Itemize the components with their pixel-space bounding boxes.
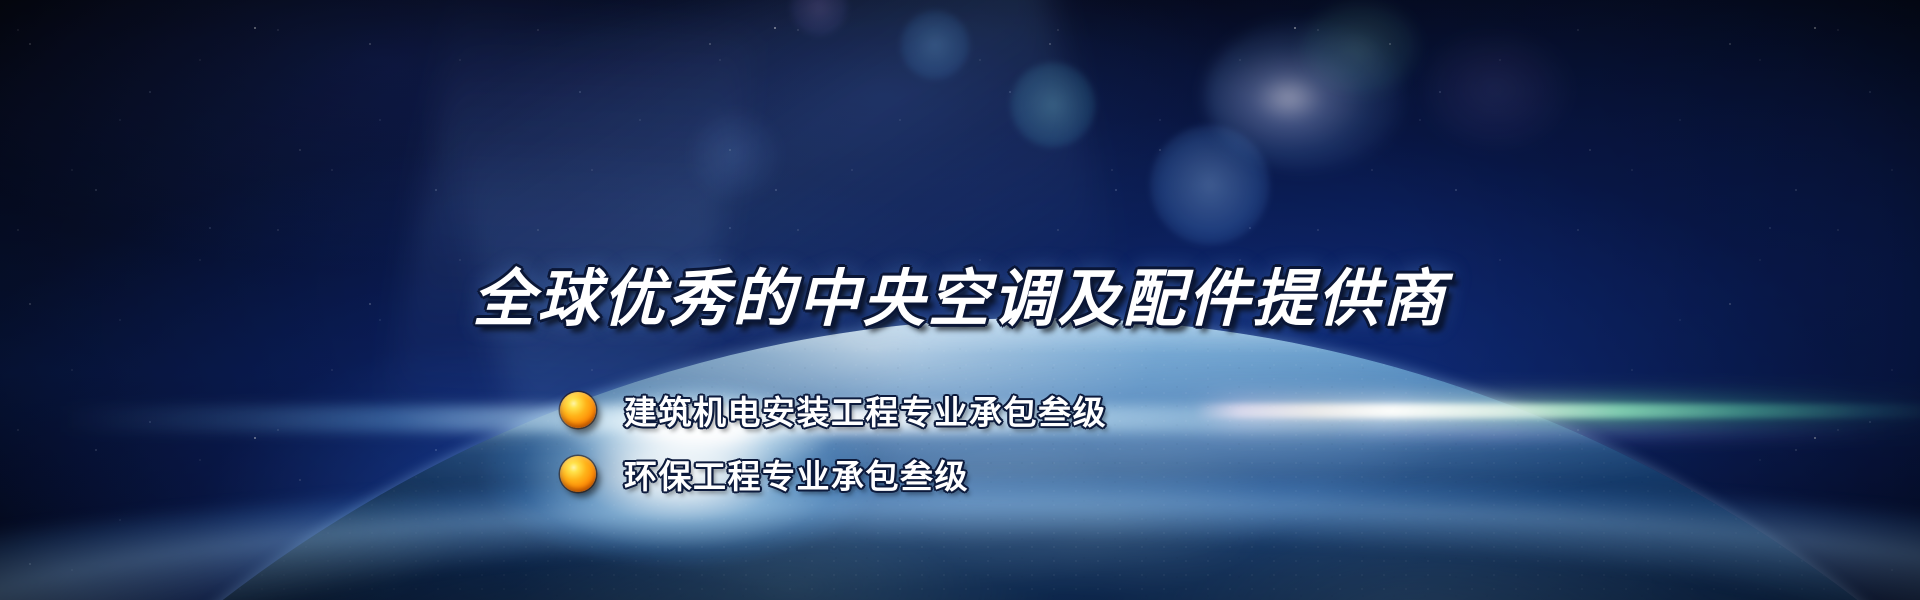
banner-bullet-list: 建筑机电安装工程专业承包叁级 环保工程专业承包叁级 [560, 378, 1107, 506]
banner-content: 全球优秀的中央空调及配件提供商 建筑机电安装工程专业承包叁级 环保工程专业承包叁… [0, 0, 1920, 600]
banner-headline: 全球优秀的中央空调及配件提供商 [0, 248, 1920, 338]
bullet-item: 建筑机电安装工程专业承包叁级 [560, 378, 1107, 442]
bullet-item-label: 环保工程专业承包叁级 [624, 450, 969, 498]
bullet-item: 环保工程专业承包叁级 [560, 442, 1107, 506]
orange-sphere-bullet-icon [560, 392, 596, 428]
hero-banner: 全球优秀的中央空调及配件提供商 建筑机电安装工程专业承包叁级 环保工程专业承包叁… [0, 0, 1920, 600]
bullet-item-label: 建筑机电安装工程专业承包叁级 [624, 386, 1107, 434]
orange-sphere-bullet-icon [560, 456, 596, 492]
